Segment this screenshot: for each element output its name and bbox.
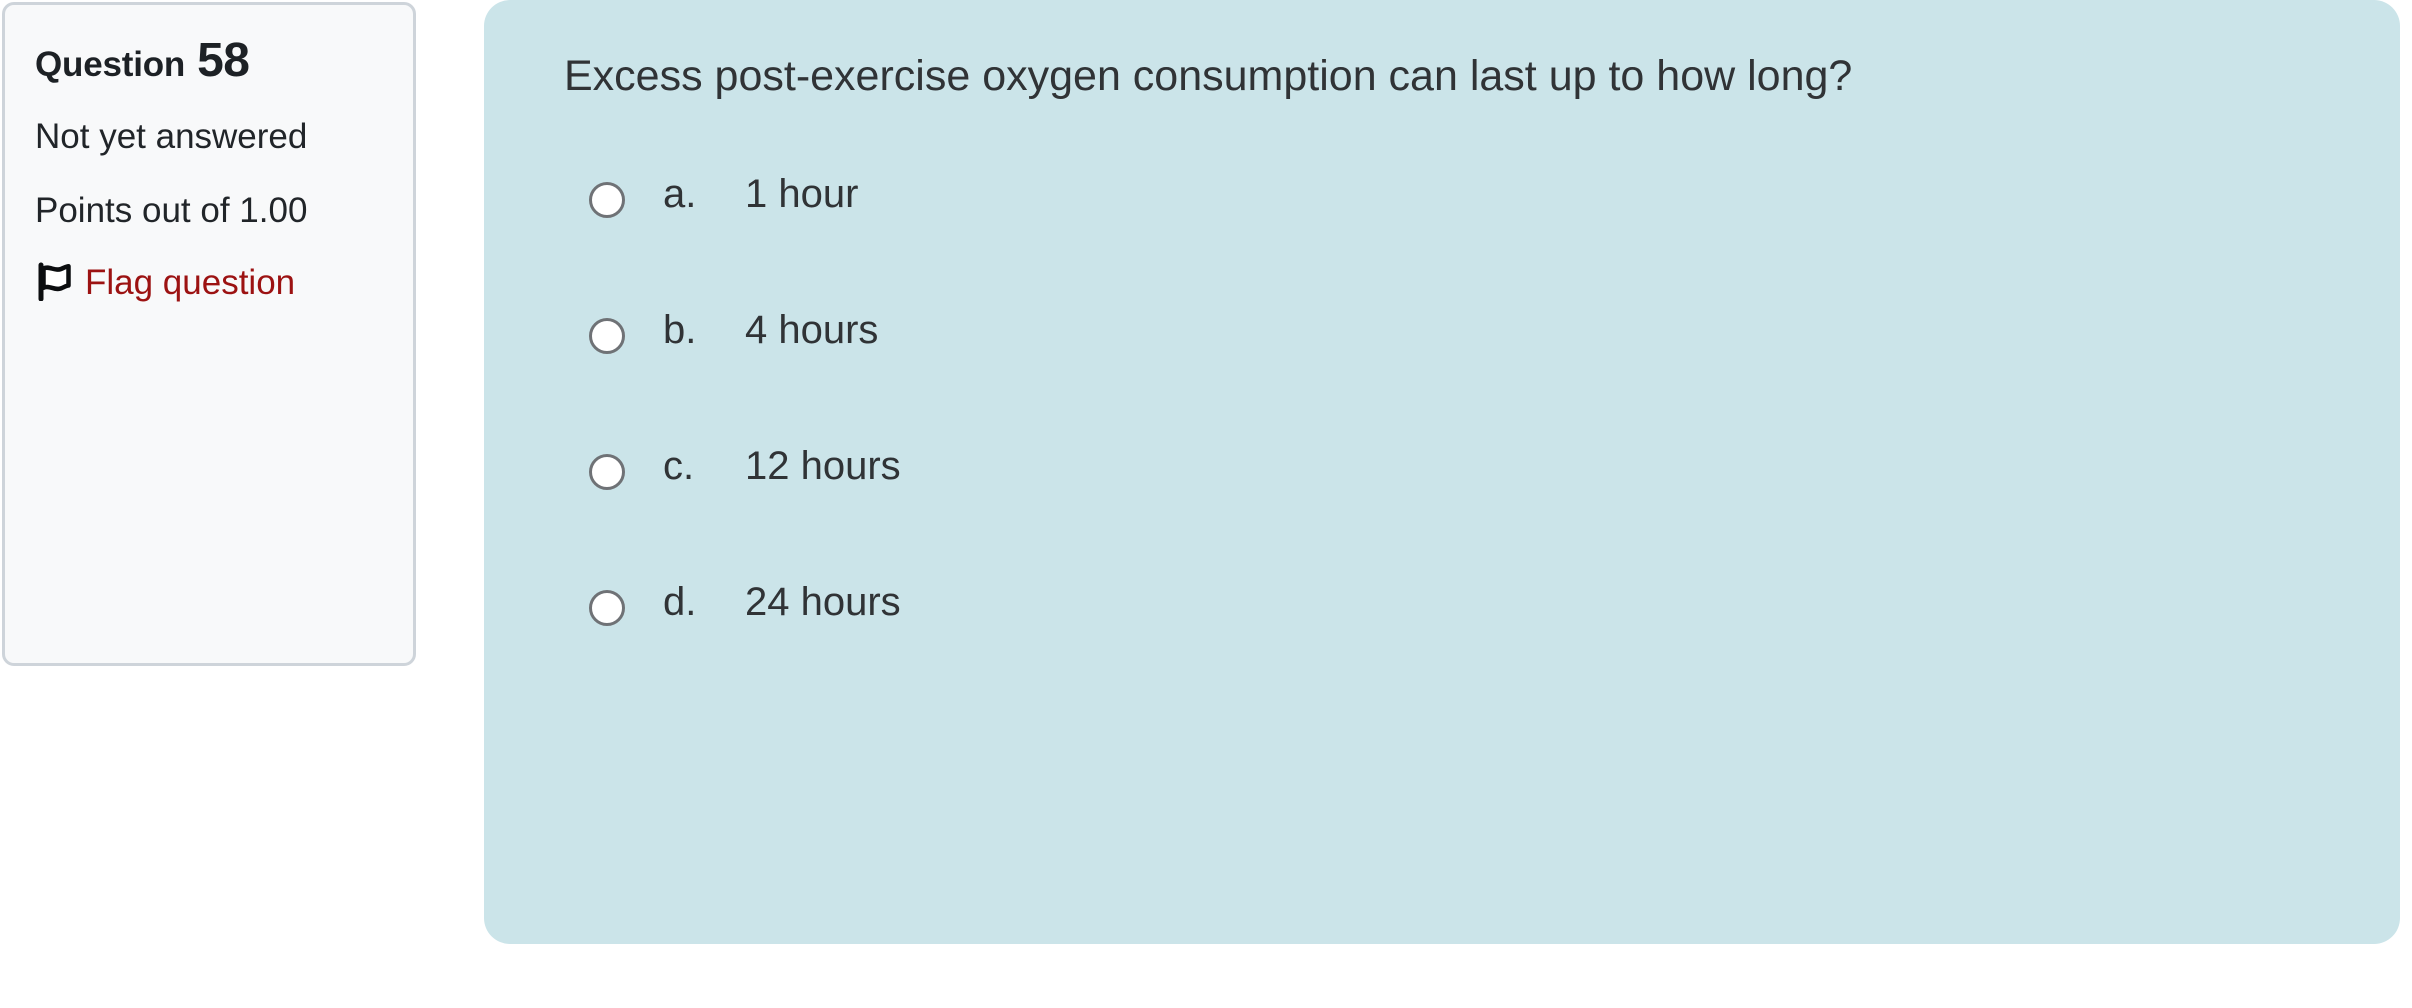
question-panel: Excess post-exercise oxygen consumption … xyxy=(484,0,2400,944)
question-info-card: Question 58 Not yet answered Points out … xyxy=(2,2,416,666)
question-grade-text: Points out of 1.00 xyxy=(35,188,345,234)
answer-option-c[interactable]: c. 12 hours xyxy=(564,441,2340,577)
question-number-value: 58 xyxy=(197,35,249,88)
quiz-question-page: Question 58 Not yet answered Points out … xyxy=(0,0,2412,1008)
question-text: Excess post-exercise oxygen consumption … xyxy=(564,46,2224,107)
answer-text-a[interactable]: 1 hour xyxy=(745,169,858,219)
flag-question-link[interactable]: Flag question xyxy=(85,263,295,302)
answer-options-list: a. 1 hour b. 4 hours c. 12 hours d. 24 h… xyxy=(564,169,2340,713)
answer-text-d[interactable]: 24 hours xyxy=(745,577,901,627)
question-number-label: Question xyxy=(35,46,185,85)
radio-button-b[interactable] xyxy=(589,318,625,354)
radio-button-d[interactable] xyxy=(589,590,625,626)
radio-button-a[interactable] xyxy=(589,182,625,218)
question-state-text: Not yet answered xyxy=(35,114,345,160)
flag-question-block[interactable]: Flag question xyxy=(35,260,365,306)
flag-outline-icon xyxy=(35,261,75,301)
answer-option-a[interactable]: a. 1 hour xyxy=(564,169,2340,305)
radio-button-c[interactable] xyxy=(589,454,625,490)
answer-option-b[interactable]: b. 4 hours xyxy=(564,305,2340,441)
answer-option-d[interactable]: d. 24 hours xyxy=(564,577,2340,713)
question-number-heading: Question 58 xyxy=(35,35,387,88)
answer-text-c[interactable]: 12 hours xyxy=(745,441,901,491)
answer-text-b[interactable]: 4 hours xyxy=(745,305,878,355)
answer-letter-b: b. xyxy=(663,305,725,355)
question-info-content: Question 58 Not yet answered Points out … xyxy=(5,5,413,306)
answer-letter-d: d. xyxy=(663,577,725,627)
answer-letter-a: a. xyxy=(663,169,725,219)
answer-letter-c: c. xyxy=(663,441,725,491)
